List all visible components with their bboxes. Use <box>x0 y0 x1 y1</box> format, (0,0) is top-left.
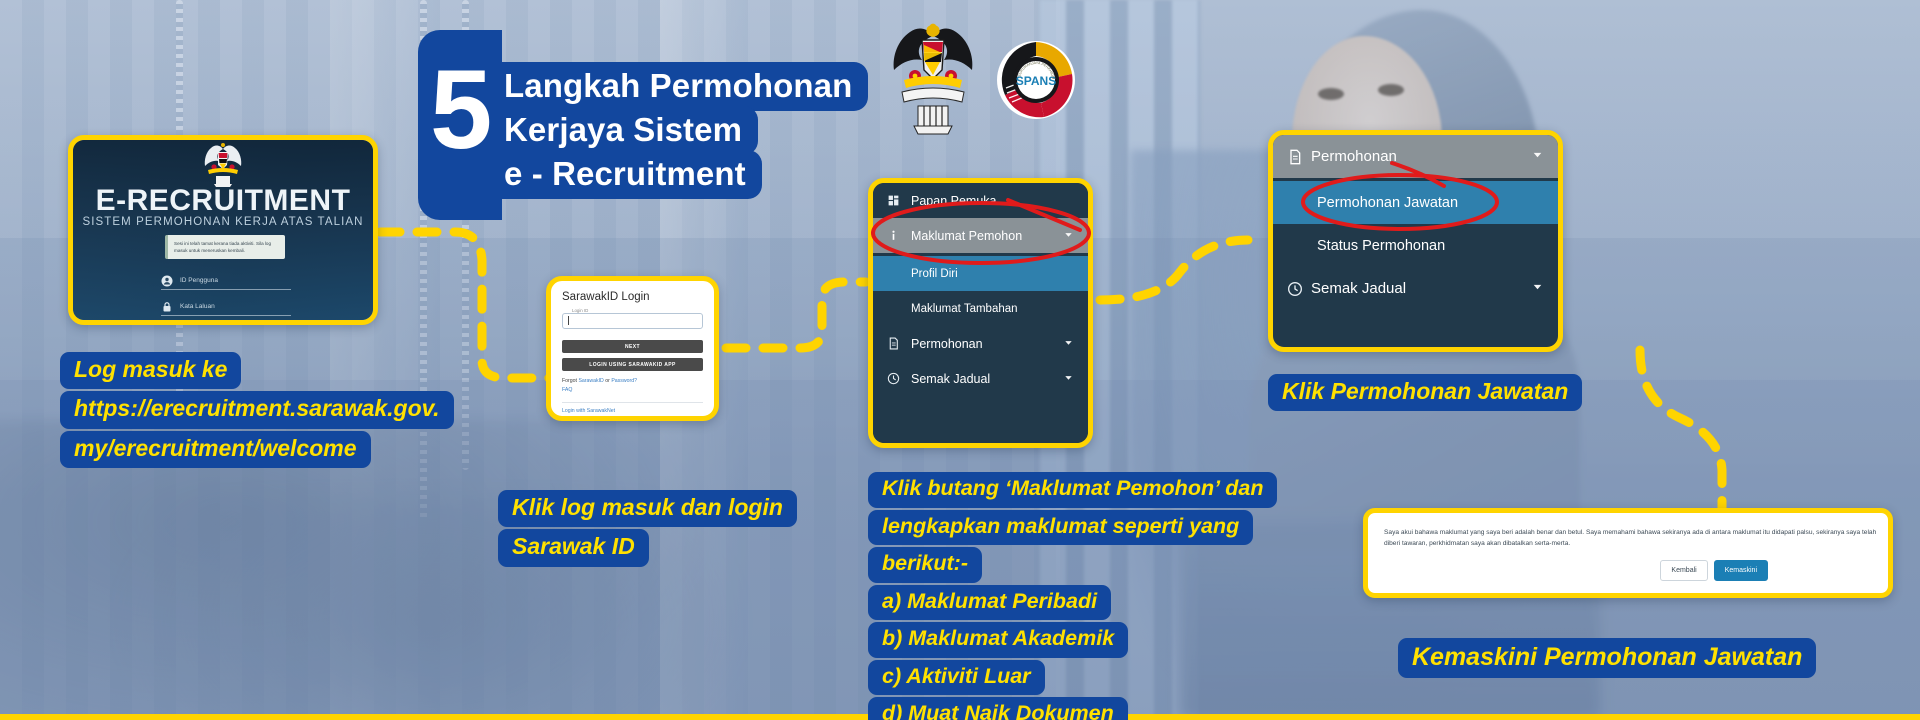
declaration-dialog-card[interactable]: Saya akui bahawa maklumat yang saya beri… <box>1363 508 1893 598</box>
permohonan-menu-card[interactable]: Permohonan Permohonan Jawatan Status Per… <box>1268 130 1563 352</box>
menu-label: Maklumat Pemohon <box>911 229 1063 243</box>
menu-label: Profil Diri <box>911 268 1074 280</box>
caption-line: my/erecruitment/welcome <box>60 431 371 468</box>
chevron-down-icon <box>1063 229 1074 243</box>
forgot-prefix: Forgot <box>562 378 578 384</box>
sarawak-crest-small-icon <box>203 142 243 188</box>
erecruitment-login-card[interactable]: E-RECRUITMENT SISTEM PERMOHONAN KERJA AT… <box>68 135 378 325</box>
menu-label: Permohonan <box>911 337 1063 351</box>
caption-step-5: Kemaskini Permohonan Jawatan <box>1398 638 1816 680</box>
caption-line: Sarawak ID <box>498 529 649 566</box>
title-line-1: Langkah Permohonan <box>496 62 868 111</box>
chevron-down-icon <box>1063 337 1074 351</box>
menu-item-semak-jadual[interactable]: Semak Jadual <box>1273 267 1558 310</box>
text-caret <box>568 316 569 325</box>
sarawak-coat-of-arms-icon <box>888 22 978 137</box>
forgot-password-link[interactable]: Password? <box>611 378 637 384</box>
erecruitment-password-placeholder: Kata Laluan <box>180 303 215 310</box>
menu-item-profil-diri[interactable]: Profil Diri <box>873 256 1088 291</box>
erecruitment-password-field[interactable]: Kata Laluan <box>161 298 291 316</box>
menu-empty-space <box>1273 310 1558 322</box>
caption-line: a) Maklumat Peribadi <box>868 585 1111 621</box>
caption-step-2: Klik log masuk dan login Sarawak ID <box>498 490 797 569</box>
kembali-button[interactable]: Kembali <box>1660 560 1707 581</box>
menu-label: Permohonan Jawatan <box>1317 195 1544 211</box>
caption-line: Klik log masuk dan login <box>498 490 797 527</box>
erecruitment-subtitle: SISTEM PERMOHONAN KERJA ATAS TALIAN <box>73 216 373 228</box>
login-id-label: Login ID <box>569 308 591 313</box>
menu-label: Maklumat Tambahan <box>911 303 1074 315</box>
sarawakid-login-card[interactable]: SarawakID Login Login ID NEXT LOGIN USIN… <box>546 276 719 421</box>
forgot-line: Forgot SarawakID or Password? <box>562 377 703 386</box>
sarawakid-heading: SarawakID Login <box>562 291 703 303</box>
menu-item-permohonan-header[interactable]: Permohonan <box>1273 135 1558 178</box>
caption-line: c) Aktiviti Luar <box>868 660 1045 696</box>
session-expired-alert: Sesi ini telah tamat kerana tiada aktivi… <box>165 235 285 259</box>
login-id-input[interactable] <box>562 313 703 329</box>
login-id-field-wrapper: Login ID <box>562 312 703 330</box>
clock-icon <box>1287 281 1303 297</box>
next-button[interactable]: NEXT <box>562 340 703 353</box>
title-line-3: e - Recruitment <box>496 150 762 199</box>
menu-item-permohonan-jawatan[interactable]: Permohonan Jawatan <box>1273 181 1558 224</box>
menu-label: Status Permohonan <box>1317 238 1544 254</box>
caption-step-3: Klik butang ‘Maklumat Pemohon’ dan lengk… <box>868 472 1277 720</box>
caption-line: Log masuk ke <box>60 352 241 389</box>
clock-icon <box>887 372 903 385</box>
login-with-sarawaknet-link[interactable]: Login with SarawakNet <box>562 408 703 414</box>
caption-line: lengkapkan maklumat seperti yang <box>868 510 1253 546</box>
svg-text:SPANS: SPANS <box>1016 74 1056 88</box>
menu-item-status-permohonan[interactable]: Status Permohonan <box>1273 224 1558 267</box>
declaration-actions: Kembali Kemaskini <box>1660 560 1768 581</box>
lock-icon <box>161 301 173 313</box>
menu-item-maklumat-pemohon[interactable]: Maklumat Pemohon <box>873 218 1088 253</box>
caption-line: b) Maklumat Akademik <box>868 622 1128 658</box>
menu-item-maklumat-tambahan[interactable]: Maklumat Tambahan <box>873 291 1088 326</box>
menu-item-papan-pemuka[interactable]: Papan Pemuka <box>873 183 1088 218</box>
register-row: Don't have an account yet? REGISTER NOW <box>562 417 703 421</box>
menu-label: Papan Pemuka <box>911 194 1074 208</box>
erecruitment-username-placeholder: ID Pengguna <box>180 277 218 284</box>
menu-label: Semak Jadual <box>1311 280 1531 297</box>
caption-step-4: Klik Permohonan Jawatan <box>1268 374 1582 413</box>
document-icon <box>1287 149 1303 165</box>
caption-line: berikut:- <box>868 547 982 583</box>
user-icon <box>161 275 173 287</box>
erecruitment-login-button[interactable]: Log Masuk <box>171 322 287 325</box>
dashboard-icon <box>887 194 903 207</box>
menu-item-permohonan[interactable]: Permohonan <box>873 326 1088 361</box>
caption-step-1: Log masuk ke https://erecruitment.sarawa… <box>60 352 454 470</box>
forgot-sarawakid-link[interactable]: SarawakID <box>578 378 603 384</box>
caption-line: Kemaskini Permohonan Jawatan <box>1398 638 1816 678</box>
maklumat-pemohon-menu-card[interactable]: Papan Pemuka Maklumat Pemohon Profil Dir… <box>868 178 1093 448</box>
menu-label: Semak Jadual <box>911 372 1063 386</box>
erecruitment-title: E-RECRUITMENT <box>73 184 373 218</box>
menu-empty-space <box>873 396 1088 444</box>
erecruitment-username-field[interactable]: ID Pengguna <box>161 272 291 290</box>
chevron-down-icon <box>1531 280 1544 297</box>
title-line-2: Kerjaya Sistem <box>496 106 758 155</box>
caption-line: Klik Permohonan Jawatan <box>1268 374 1582 411</box>
caption-line: https://erecruitment.sarawak.gov. <box>60 391 454 428</box>
spans-logo-icon: SPANS SURUHANJAYA PERKHIDMATAN AWAM NEGE… <box>996 40 1076 120</box>
help-links: Forgot SarawakID or Password? FAQ <box>562 377 703 396</box>
document-icon <box>887 337 903 350</box>
menu-label: Permohonan <box>1311 148 1531 165</box>
step-count-number: 5 <box>430 58 490 161</box>
register-now-button[interactable]: REGISTER NOW <box>649 417 703 421</box>
caption-line: Klik butang ‘Maklumat Pemohon’ dan <box>868 472 1277 508</box>
login-using-sarawakid-app-button[interactable]: LOGIN USING SARAWAKID APP <box>562 358 703 371</box>
menu-item-semak-jadual[interactable]: Semak Jadual <box>873 361 1088 396</box>
chevron-down-icon <box>1531 148 1544 165</box>
declaration-text: Saya akui bahawa maklumat yang saya beri… <box>1384 528 1880 550</box>
faq-link[interactable]: FAQ <box>562 387 572 393</box>
chevron-down-icon <box>1063 372 1074 386</box>
caption-line: d) Muat Naik Dokumen <box>868 697 1128 720</box>
info-icon <box>887 229 903 242</box>
kemaskini-button[interactable]: Kemaskini <box>1714 560 1768 581</box>
divider <box>562 402 703 403</box>
